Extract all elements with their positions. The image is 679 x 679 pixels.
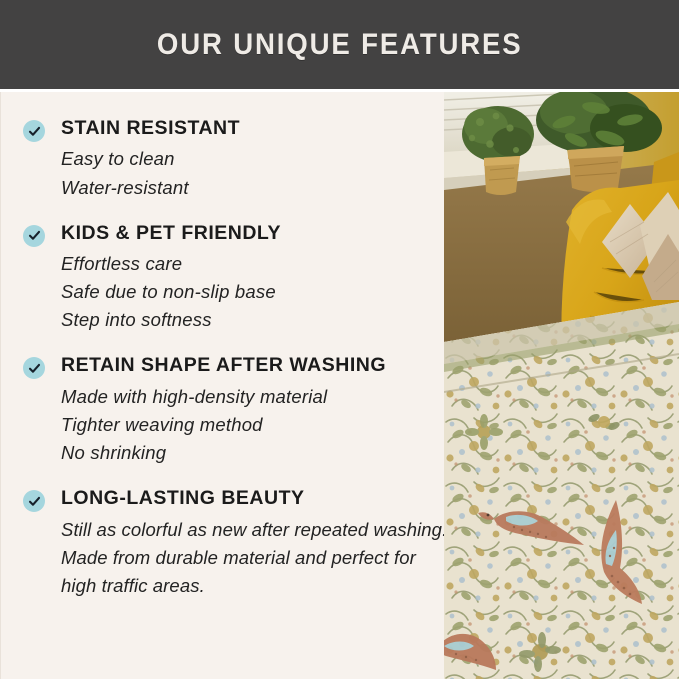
features-panel-inner: STAIN RESISTANT Easy to clean Water-resi… [7,92,445,679]
feature-line-list: Made with high-density material Tighter … [61,383,441,467]
feature-line-list: Easy to clean Water-resistant [61,145,441,201]
product-photo [444,92,679,679]
check-circle-icon [23,357,45,379]
feature-line: No shrinking [61,439,441,467]
feature-list: STAIN RESISTANT Easy to clean Water-resi… [21,118,441,600]
feature-line: Step into softness [61,306,441,334]
feature-line-list: Effortless care Safe due to non-slip bas… [61,250,441,334]
feature-title: LONG-LASTING BEAUTY [61,488,441,509]
check-circle-icon [23,490,45,512]
header-bar: OUR UNIQUE FEATURES [0,0,679,89]
feature-item: LONG-LASTING BEAUTY Still as colorful as… [21,488,441,600]
page-title: OUR UNIQUE FEATURES [157,28,523,62]
feature-item: RETAIN SHAPE AFTER WASHING Made with hig… [21,355,441,467]
feature-line: Easy to clean [61,145,441,173]
feature-title: STAIN RESISTANT [61,118,441,139]
feature-line: Safe due to non-slip base [61,278,441,306]
feature-item: KIDS & PET FRIENDLY Effortless care Safe… [21,223,441,335]
content-area: STAIN RESISTANT Easy to clean Water-resi… [0,92,679,679]
feature-infographic: OUR UNIQUE FEATURES STAIN RESISTANT [0,0,679,679]
feature-line: Made with high-density material [61,383,441,411]
feature-line: Tighter weaving method [61,411,441,439]
feature-title: RETAIN SHAPE AFTER WASHING [61,355,441,376]
feature-item: STAIN RESISTANT Easy to clean Water-resi… [21,118,441,202]
feature-paragraph: Still as colorful as new after repeated … [61,516,453,600]
check-circle-icon [23,225,45,247]
feature-title: KIDS & PET FRIENDLY [61,223,441,244]
features-panel: STAIN RESISTANT Easy to clean Water-resi… [0,92,444,679]
feature-line: Water-resistant [61,174,441,202]
check-circle-icon [23,120,45,142]
feature-line: Effortless care [61,250,441,278]
